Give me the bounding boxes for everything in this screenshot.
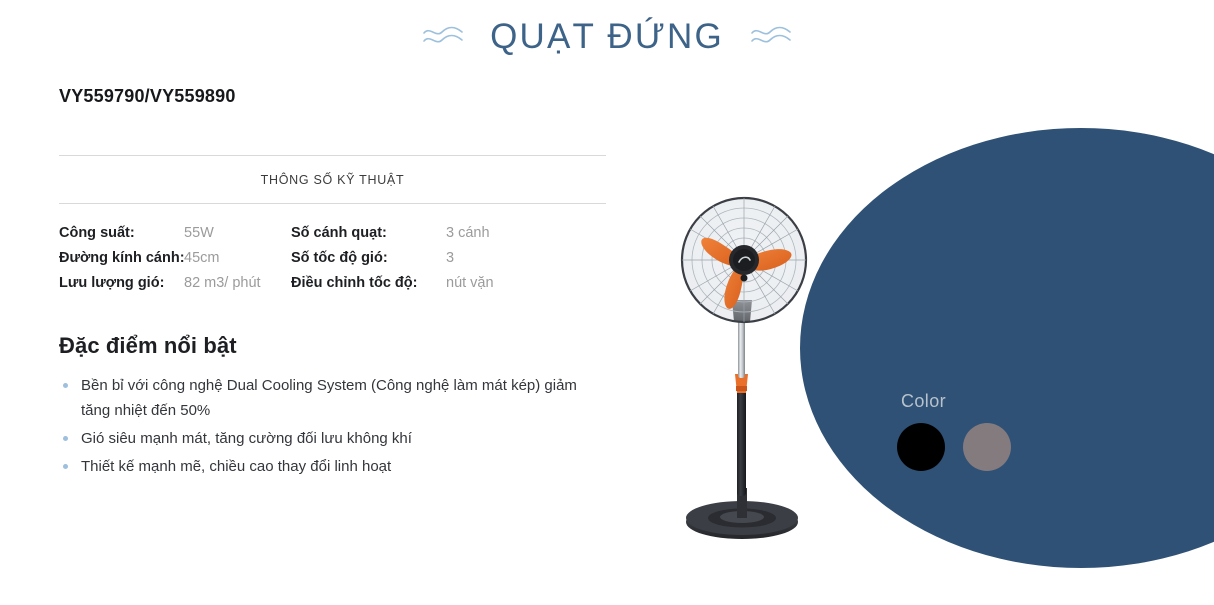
product-spec-page: QUẠT ĐỨNG VY559790/VY559890 THÔNG SỐ KỸ … [0,0,1214,605]
features-section: Đặc điểm nổi bật Bền bỉ với công nghệ Du… [59,333,606,479]
spec-table: Công suất: 55W Số cánh quạt: 3 cánh Đườn… [59,225,606,291]
specifications-section: THÔNG SỐ KỸ THUẬT Công suất: 55W Số cánh… [59,155,606,291]
wave-icon-left [422,24,464,50]
bullet-icon [63,436,68,441]
spec-label: Số cánh quạt: [291,225,446,241]
spec-value: nút vặn [446,275,606,291]
spec-value: 3 cánh [446,225,606,241]
spec-value: 3 [446,250,606,266]
spec-label: Đường kính cánh: [59,250,184,266]
spec-divider-bottom [59,203,606,204]
spec-label: Lưu lượng gió: [59,275,184,291]
spec-label: Công suất: [59,225,184,241]
product-image-pedestal-fan [682,188,912,548]
bullet-icon [63,383,68,388]
feature-text: Bền bỉ với công nghệ Dual Cooling System… [81,377,577,419]
fan-upper-pole [738,316,745,378]
features-title: Đặc điểm nổi bật [59,333,606,359]
feature-text: Thiết kế mạnh mẽ, chiều cao thay đổi lin… [81,458,391,475]
product-visual-column: Color [614,0,1214,605]
color-swatch-warm-gray[interactable] [963,423,1011,471]
spec-value: 55W [184,225,291,241]
spec-value: 82 m3/ phút [184,275,291,291]
color-swatch-group [897,423,1011,471]
spec-value: 45cm [184,250,291,266]
bullet-icon [63,464,68,469]
spec-section-heading: THÔNG SỐ KỸ THUẬT [59,156,606,203]
feature-text: Gió siêu mạnh mát, tăng cường đối lưu kh… [81,430,412,447]
list-item: Thiết kế mạnh mẽ, chiều cao thay đổi lin… [59,454,604,479]
list-item: Bền bỉ với công nghệ Dual Cooling System… [59,373,604,423]
spec-label: Số tốc độ gió: [291,250,446,266]
spec-label: Điều chỉnh tốc độ: [291,275,446,291]
product-details-column: VY559790/VY559890 THÔNG SỐ KỸ THUẬT Công… [59,86,606,482]
list-item: Gió siêu mạnh mát, tăng cường đối lưu kh… [59,426,604,451]
fan-lower-pole [737,388,746,496]
feature-list: Bền bỉ với công nghệ Dual Cooling System… [59,373,606,479]
model-number: VY559790/VY559890 [59,86,606,107]
